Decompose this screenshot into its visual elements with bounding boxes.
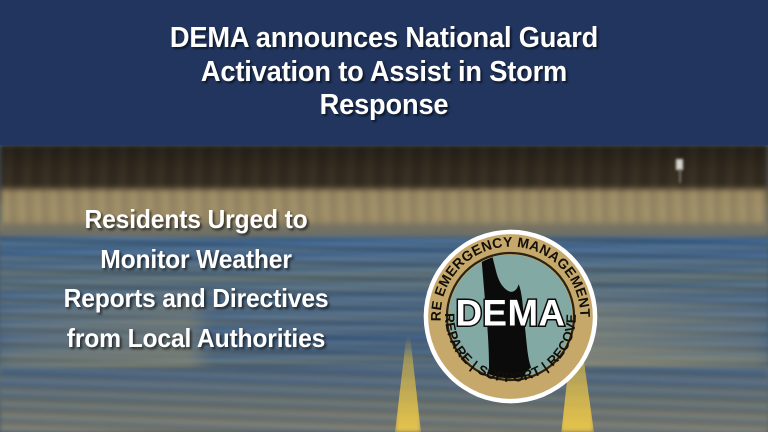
subhead-line-2: Monitor Weather [100,244,292,274]
subhead-line-4: from Local Authorities [67,323,325,353]
subhead-line-1: Residents Urged to [84,204,307,234]
subhead-line-3: Reports and Directives [64,283,329,313]
headline-line-2: Activation to Assist in Storm [201,56,567,88]
dema-seal-logo: DELAWARE EMERGENCY MANAGEMENT AGENCY PRE… [421,227,600,406]
distant-sign-post [679,169,681,183]
subhead-text: Residents Urged to Monitor Weather Repor… [19,200,372,358]
dema-seal-svg: DELAWARE EMERGENCY MANAGEMENT AGENCY PRE… [421,227,600,406]
header-banner: DEMA announces National Guard Activation… [0,0,768,145]
seal-center-wordmark: DEMA [456,292,566,333]
headline-line-1: DEMA announces National Guard [170,22,598,54]
page-title: DEMA announces National Guard Activation… [74,22,694,123]
graphic-canvas: DEMA announces National Guard Activation… [0,0,768,432]
headline-line-3: Response [320,89,449,121]
submerged-road-layer [0,367,768,432]
